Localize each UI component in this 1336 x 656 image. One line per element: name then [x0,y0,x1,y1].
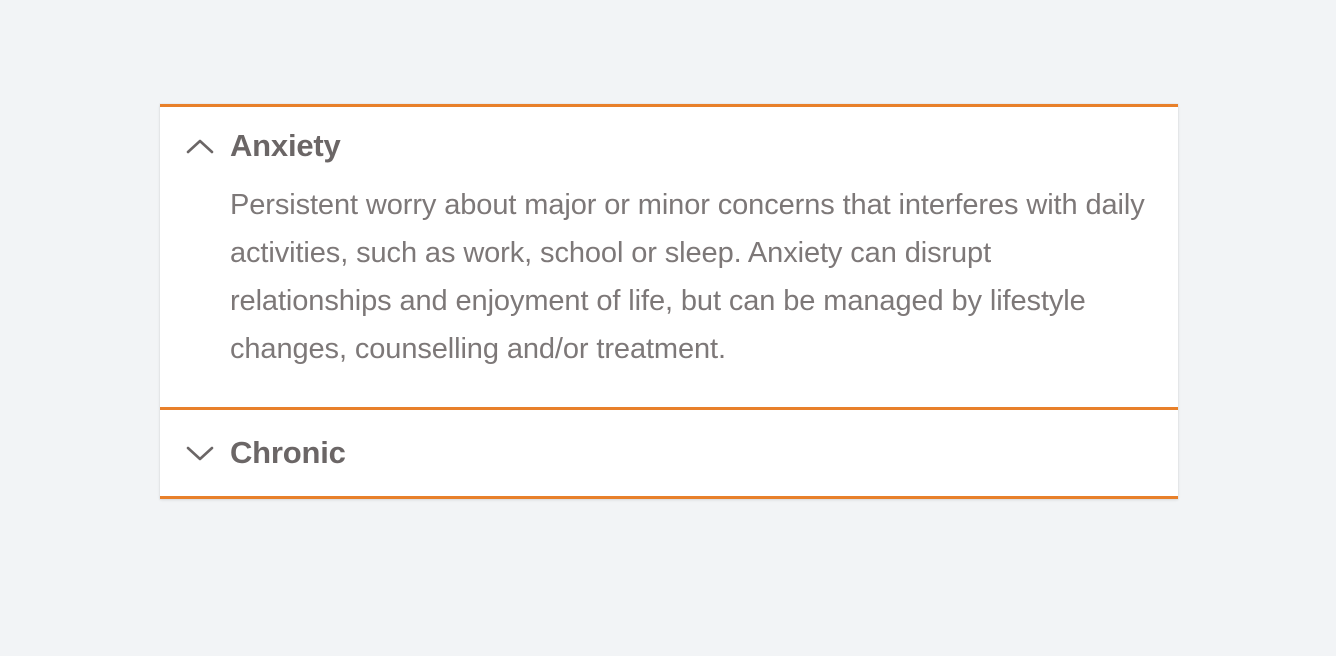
accordion-body-text-anxiety: Persistent worry about major or minor co… [230,181,1152,373]
accordion-title-anxiety: Anxiety [230,129,341,163]
accordion-body-anxiety: Persistent worry about major or minor co… [160,181,1178,407]
accordion-panel-chronic: Chronic [160,407,1178,499]
accordion-header-anxiety[interactable]: Anxiety [160,107,1178,181]
chevron-up-icon[interactable] [180,138,220,155]
page-root: Anxiety Persistent worry about major or … [0,0,1336,656]
accordion-title-chronic: Chronic [230,436,346,470]
accordion-header-chronic[interactable]: Chronic [160,410,1178,496]
accordion: Anxiety Persistent worry about major or … [160,104,1178,499]
accordion-panel-anxiety: Anxiety Persistent worry about major or … [160,104,1178,407]
chevron-down-icon[interactable] [180,445,220,462]
